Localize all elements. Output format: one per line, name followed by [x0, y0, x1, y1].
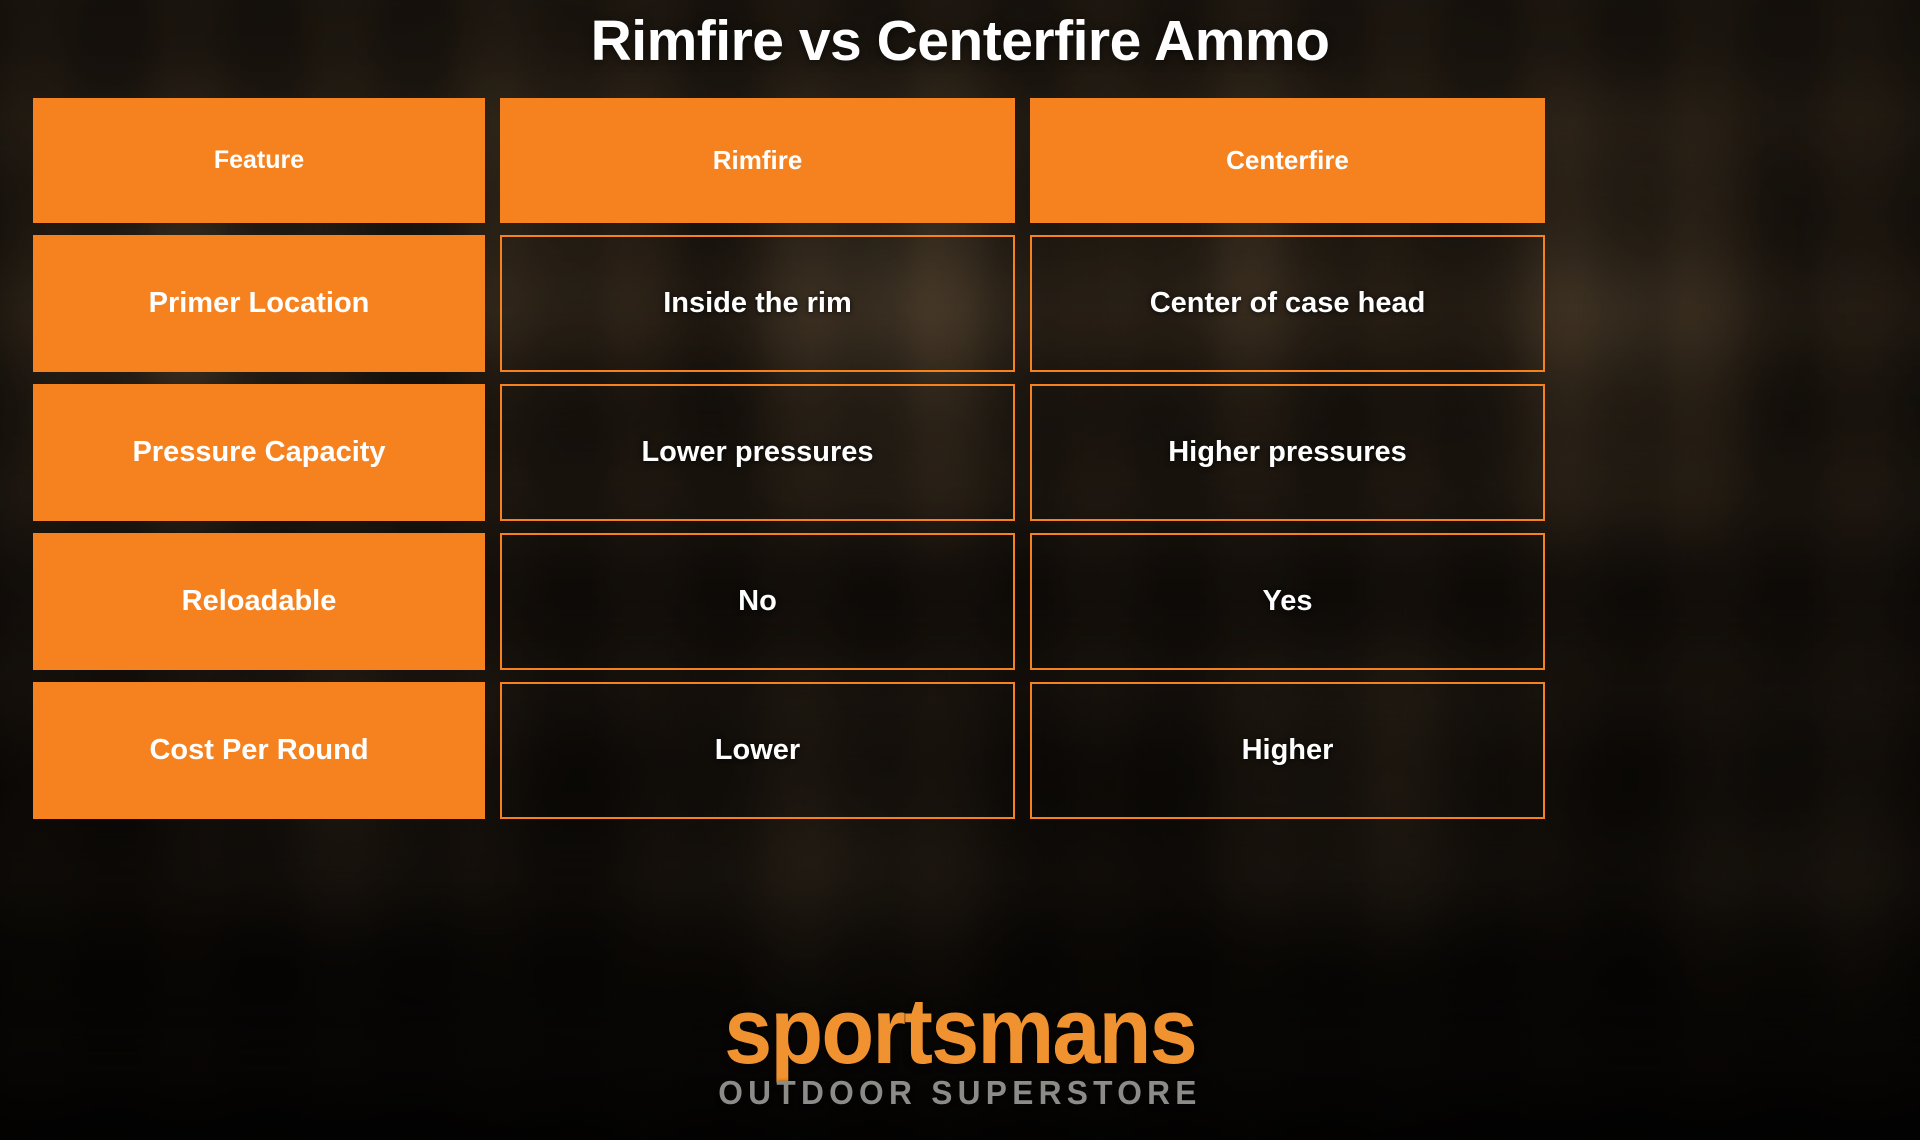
cell-centerfire-cost-per-round: Higher [1030, 682, 1545, 819]
table-header-row: Feature Rimfire Centerfire [33, 98, 1545, 223]
logo-tagline: OUTDOOR SUPERSTORE [38, 1074, 1881, 1112]
column-header-rimfire: Rimfire [500, 98, 1015, 223]
cell-centerfire-reloadable: Yes [1030, 533, 1545, 670]
table-row: Reloadable No Yes [33, 533, 1545, 670]
table-row: Cost Per Round Lower Higher [33, 682, 1545, 819]
cell-rimfire-primer-location: Inside the rim [500, 235, 1015, 372]
table-row: Primer Location Inside the rim Center of… [33, 235, 1545, 372]
infographic-canvas: Rimfire vs Centerfire Ammo Feature Rimfi… [0, 0, 1920, 1140]
comparison-table: Feature Rimfire Centerfire Primer Locati… [33, 98, 1545, 819]
row-label-primer-location: Primer Location [33, 235, 485, 372]
column-header-centerfire: Centerfire [1030, 98, 1545, 223]
table-row: Pressure Capacity Lower pressures Higher… [33, 384, 1545, 521]
logo-wordmark: sportsmans [77, 991, 1843, 1072]
row-label-cost-per-round: Cost Per Round [33, 682, 485, 819]
sportsmans-logo: sportsmans OUTDOOR SUPERSTORE [0, 991, 1920, 1112]
column-header-feature: Feature [33, 98, 485, 223]
cell-rimfire-cost-per-round: Lower [500, 682, 1015, 819]
row-label-reloadable: Reloadable [33, 533, 485, 670]
cell-rimfire-reloadable: No [500, 533, 1015, 670]
cell-centerfire-pressure-capacity: Higher pressures [1030, 384, 1545, 521]
page-title: Rimfire vs Centerfire Ammo [0, 8, 1920, 74]
row-label-pressure-capacity: Pressure Capacity [33, 384, 485, 521]
cell-rimfire-pressure-capacity: Lower pressures [500, 384, 1015, 521]
cell-centerfire-primer-location: Center of case head [1030, 235, 1545, 372]
